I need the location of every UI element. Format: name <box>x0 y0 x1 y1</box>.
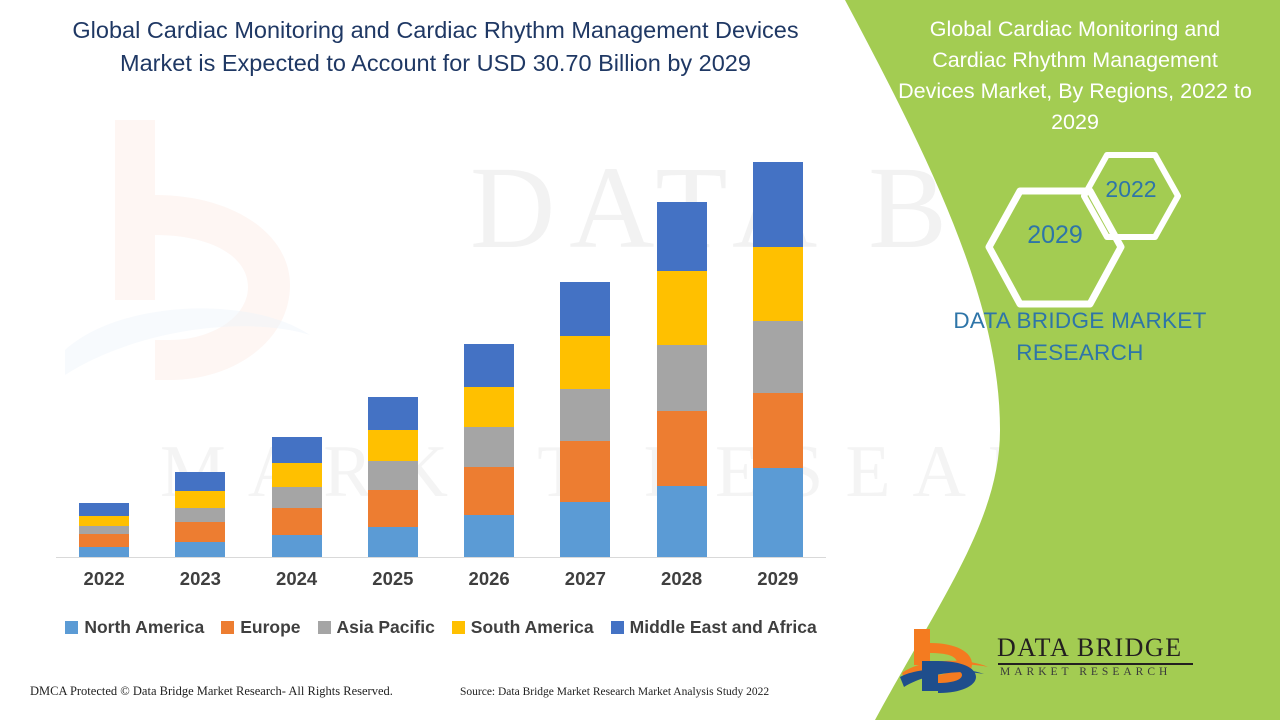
bar-column <box>537 150 633 557</box>
x-axis-label: 2028 <box>634 568 730 590</box>
legend-swatch-icon <box>452 621 465 634</box>
stacked-bar <box>657 202 707 558</box>
stacked-bar <box>753 162 803 557</box>
legend-swatch-icon <box>611 621 624 634</box>
bar-segment <box>464 427 514 467</box>
brand-name: DATA BRIDGE MARKET RESEARCH <box>900 305 1260 369</box>
bar-segment <box>175 508 225 522</box>
company-logo: DATA BRIDGE MARKET RESEARCH <box>900 625 1200 695</box>
bar-segment <box>753 468 803 557</box>
bar-segment <box>657 486 707 557</box>
bar-segment <box>175 472 225 491</box>
bar-column <box>249 150 345 557</box>
bar-segment <box>560 282 610 336</box>
bar-segment <box>272 463 322 487</box>
x-axis-label: 2027 <box>537 568 633 590</box>
legend-swatch-icon <box>65 621 78 634</box>
chart-legend: North AmericaEuropeAsia PacificSouth Ame… <box>46 617 836 638</box>
bar-segment <box>657 271 707 345</box>
bar-segment <box>79 516 129 527</box>
bar-segment <box>464 344 514 387</box>
logo-divider <box>998 663 1193 665</box>
stacked-bar <box>368 397 418 557</box>
x-axis-label: 2023 <box>152 568 248 590</box>
x-axis-label: 2029 <box>730 568 826 590</box>
bar-segment <box>368 430 418 460</box>
bar-segment <box>272 487 322 508</box>
bar-segment <box>272 508 322 535</box>
bar-segment <box>464 467 514 515</box>
bar-segment <box>79 534 129 546</box>
bar-segment <box>560 336 610 389</box>
hexagon-label-start: 2022 <box>1080 176 1182 203</box>
panel-title: Global Cardiac Monitoring and Cardiac Rh… <box>895 14 1255 138</box>
bar-segment <box>753 393 803 467</box>
page-title: Global Cardiac Monitoring and Cardiac Rh… <box>38 14 833 80</box>
bar-segment <box>657 345 707 411</box>
bar-column <box>345 150 441 557</box>
bar-segment <box>657 202 707 272</box>
source-note: Source: Data Bridge Market Research Mark… <box>460 686 769 698</box>
databridge-logo-icon <box>900 625 992 693</box>
legend-item[interactable]: Asia Pacific <box>318 617 435 638</box>
chart-plot-area <box>56 150 826 558</box>
x-axis-label: 2025 <box>345 568 441 590</box>
copyright-notice: DMCA Protected © Data Bridge Market Rese… <box>30 684 393 699</box>
bar-segment <box>368 397 418 430</box>
legend-label: North America <box>84 617 204 638</box>
bar-segment <box>753 321 803 393</box>
bar-segment <box>272 437 322 463</box>
bar-column <box>56 150 152 557</box>
legend-swatch-icon <box>221 621 234 634</box>
bar-segment <box>175 491 225 508</box>
bar-segment <box>464 515 514 557</box>
x-axis-label: 2026 <box>441 568 537 590</box>
legend-item[interactable]: Europe <box>221 617 300 638</box>
stacked-bar <box>175 472 225 557</box>
bar-column <box>634 150 730 557</box>
x-axis-label: 2024 <box>249 568 345 590</box>
bar-segment <box>464 387 514 427</box>
stacked-bar <box>464 344 514 557</box>
logo-text-main: DATA BRIDGE <box>997 633 1183 663</box>
bar-segment <box>560 389 610 441</box>
bar-segment <box>79 503 129 516</box>
stacked-bar <box>560 282 610 557</box>
bar-segment <box>175 522 225 541</box>
legend-label: Europe <box>240 617 300 638</box>
legend-label: South America <box>471 617 594 638</box>
bar-segment <box>368 527 418 557</box>
stacked-bar <box>79 503 129 557</box>
infographic-root: DATA BRIDGE MARKET RESEARCH Global Cardi… <box>0 0 1280 720</box>
bar-column <box>730 150 826 557</box>
bar-segment <box>175 542 225 557</box>
bar-segment <box>79 547 129 558</box>
stacked-bar <box>272 437 322 557</box>
legend-item[interactable]: North America <box>65 617 204 638</box>
x-axis-labels: 20222023202420252026202720282029 <box>56 568 826 590</box>
legend-item[interactable]: South America <box>452 617 594 638</box>
bar-segment <box>753 162 803 247</box>
bar-column <box>152 150 248 557</box>
legend-label: Asia Pacific <box>337 617 435 638</box>
legend-label: Middle East and Africa <box>630 617 817 638</box>
hexagon-badge-2022: 2022 <box>1080 150 1182 247</box>
legend-swatch-icon <box>318 621 331 634</box>
x-axis-line <box>56 557 826 558</box>
bar-segment <box>368 490 418 526</box>
bar-segment <box>753 247 803 321</box>
logo-text-sub: MARKET RESEARCH <box>1000 666 1171 678</box>
bar-segment <box>657 411 707 487</box>
bar-segment <box>560 441 610 502</box>
bar-segment <box>560 502 610 557</box>
bar-group <box>56 150 826 557</box>
bar-segment <box>368 461 418 491</box>
legend-item[interactable]: Middle East and Africa <box>611 617 817 638</box>
panel-content: Global Cardiac Monitoring and Cardiac Rh… <box>900 0 1280 720</box>
bar-segment <box>79 526 129 534</box>
bar-column <box>441 150 537 557</box>
bar-segment <box>272 535 322 557</box>
x-axis-label: 2022 <box>56 568 152 590</box>
